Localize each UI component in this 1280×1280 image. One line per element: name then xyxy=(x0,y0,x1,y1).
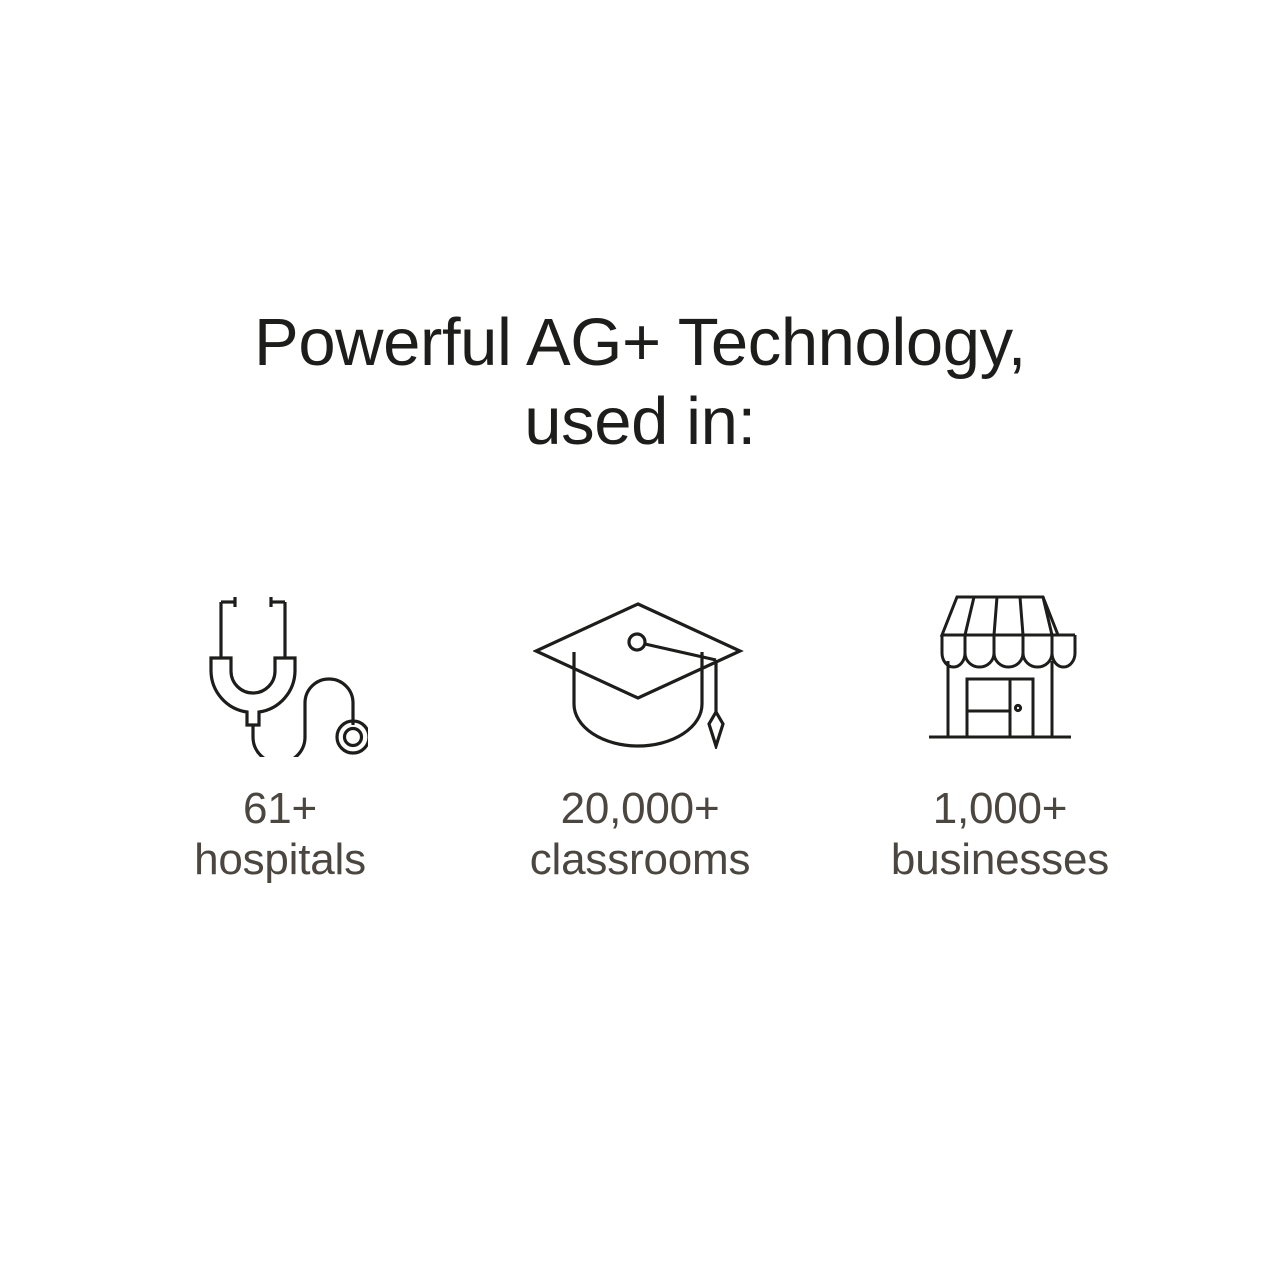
stat-label-hospitals: 61+ hospitals xyxy=(194,783,366,885)
infographic-page: Powerful AG+ Technology, used in: xyxy=(0,0,1280,1280)
stat-item-businesses: 1,000+ businesses xyxy=(830,585,1170,885)
stat-item-classrooms: 20,000+ classrooms xyxy=(470,585,810,885)
stat-label-businesses: 1,000+ businesses xyxy=(891,783,1109,885)
graduation-cap-icon xyxy=(533,585,748,757)
stat-item-hospitals: 61+ hospitals xyxy=(110,585,450,885)
page-title: Powerful AG+ Technology, used in: xyxy=(0,303,1280,461)
stats-row: 61+ hospitals 20,000+ classrooms xyxy=(110,585,1170,885)
stethoscope-icon xyxy=(193,585,368,757)
storefront-icon xyxy=(915,585,1085,757)
stat-label-classrooms: 20,000+ classrooms xyxy=(530,783,751,885)
